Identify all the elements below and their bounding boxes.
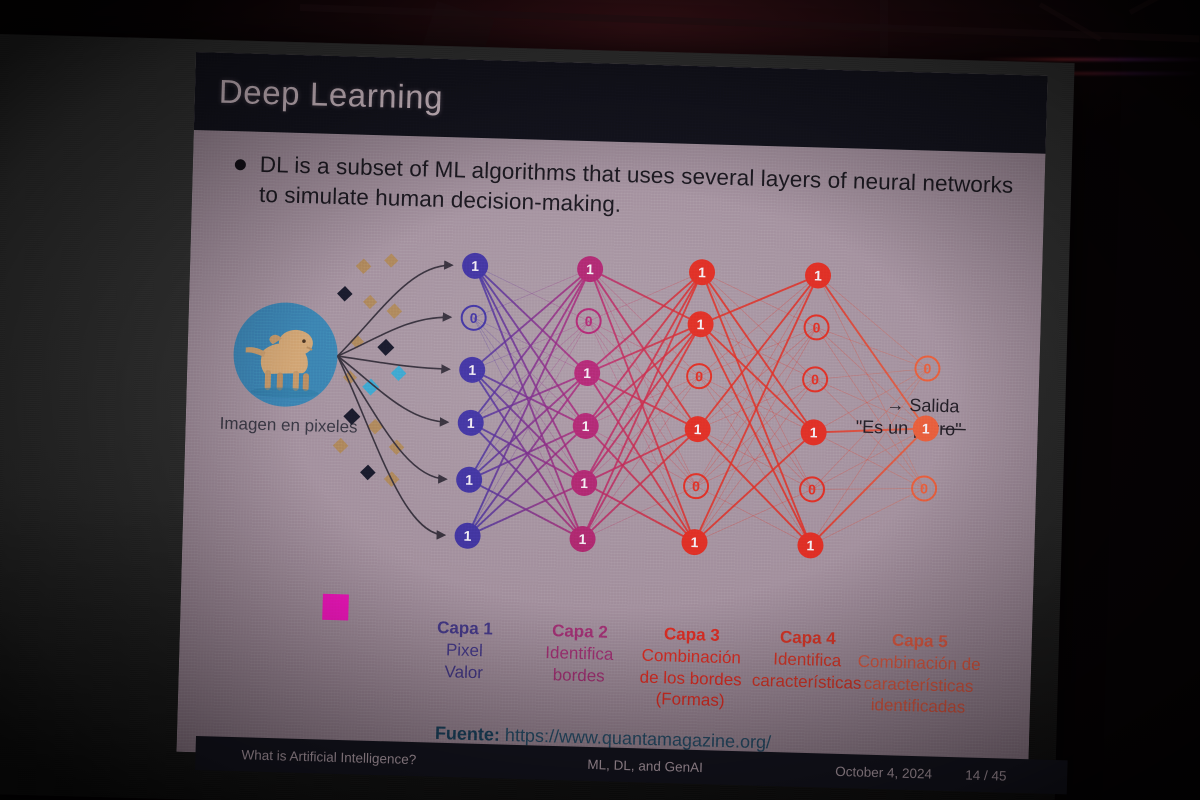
- network-edge: [698, 376, 815, 432]
- network-edge: [584, 426, 698, 486]
- source-lead-label: Fuente:: [435, 723, 501, 745]
- footer-talk-title: What is Artificial Intelligence?: [241, 747, 416, 767]
- network-edge: [812, 275, 930, 488]
- network-edge: [815, 365, 927, 382]
- slide-body: DL is a subset of ML algorithms that use…: [176, 130, 1045, 776]
- network-edge: [590, 269, 702, 272]
- network-edge: [695, 486, 813, 545]
- layer-name: Capa 5: [827, 628, 1013, 655]
- layer-description: Pixel Valor: [444, 640, 483, 682]
- network-edge: [586, 321, 701, 429]
- network-edge: [695, 542, 811, 545]
- network-edge: [471, 266, 590, 426]
- network-edge: [586, 269, 702, 429]
- output-value-text: "Es un perro": [855, 416, 961, 442]
- network-edge: [583, 426, 698, 542]
- network-edge: [474, 266, 590, 321]
- network-edge: [695, 429, 814, 545]
- network-edge: [698, 272, 818, 432]
- network-edge: [472, 266, 590, 373]
- ceiling-truss-beam: [1129, 0, 1200, 15]
- ceiling-truss-beam: [880, 0, 888, 56]
- network-edge: [583, 321, 701, 542]
- network-edge: [702, 272, 818, 275]
- network-edge: [475, 266, 590, 269]
- network-edge: [468, 536, 583, 539]
- network-edge: [699, 272, 818, 379]
- network-edge: [586, 426, 698, 429]
- projected-slide: Deep Learning DL is a subset of ML algor…: [176, 52, 1047, 776]
- network-edge: [810, 425, 925, 548]
- layer-description: Combinación de características identific…: [858, 651, 981, 717]
- footer-section: ML, DL, and GenAI: [587, 756, 703, 774]
- layer-caption-5: Capa 5Combinación de características ide…: [825, 628, 1012, 720]
- network-edge: [810, 365, 927, 548]
- photo-of-projected-slide: Deep Learning DL is a subset of ML algor…: [0, 0, 1200, 800]
- network-edge: [810, 485, 924, 548]
- network-edge: [698, 324, 817, 432]
- network-edge: [583, 373, 700, 542]
- page-title: Deep Learning: [218, 73, 443, 117]
- layer-description: Identifica bordes: [545, 643, 614, 685]
- network-edge: [583, 539, 695, 542]
- bullet-item: DL is a subset of ML algorithms that use…: [234, 149, 1025, 231]
- bullet-text: DL is a subset of ML algorithms that use…: [259, 150, 1025, 232]
- network-edge: [815, 327, 928, 368]
- footer-page-number: 14 / 45: [965, 767, 1007, 783]
- network-edge: [696, 429, 814, 489]
- network-edge: [587, 269, 702, 376]
- network-edge: [701, 272, 818, 327]
- bullet-dot-icon: [235, 159, 246, 170]
- network-edge: [698, 429, 814, 432]
- footer-date: October 4, 2024: [835, 763, 932, 781]
- output-arrow-text: → Salida: [886, 394, 960, 416]
